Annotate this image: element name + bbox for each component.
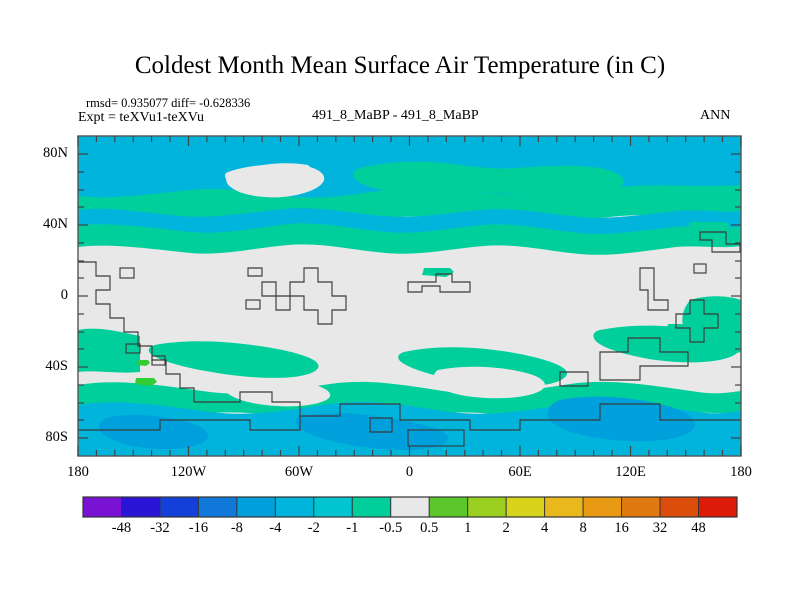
colorbar-cell xyxy=(237,497,275,517)
y-tick-label: 80N xyxy=(22,145,68,162)
colorbar-cell xyxy=(121,497,159,517)
x-tick-label: 180 xyxy=(43,464,113,481)
x-tick-label: 60E xyxy=(485,464,555,481)
rmsd-label: rmsd= 0.935077 diff= -0.628336 xyxy=(86,96,250,111)
x-tick-label: 120E xyxy=(596,464,666,481)
colorbar-cell xyxy=(660,497,698,517)
colorbar-cell xyxy=(622,497,660,517)
contour-band-neghalf-south1 xyxy=(78,329,140,373)
season-label: ANN xyxy=(700,108,730,124)
colorbar xyxy=(83,497,737,517)
y-tick-label: 0 xyxy=(22,287,68,304)
colorbar-cell xyxy=(352,497,390,517)
y-tick-label: 40S xyxy=(22,358,68,375)
colorbar-cell xyxy=(583,497,621,517)
y-tick-label: 80S xyxy=(22,429,68,446)
experiment-label: Expt = teXVu1-teXVu xyxy=(78,110,204,126)
x-tick-label: 180 xyxy=(706,464,776,481)
colorbar-cell xyxy=(83,497,121,517)
colorbar-cell xyxy=(160,497,198,517)
x-tick-label: 120W xyxy=(154,464,224,481)
colorbar-cell xyxy=(314,497,352,517)
colorbar-cell xyxy=(391,497,429,517)
colorbar-cell xyxy=(699,497,737,517)
colorbar-cell xyxy=(198,497,236,517)
colorbar-cell xyxy=(275,497,313,517)
page-title: Coldest Month Mean Surface Air Temperatu… xyxy=(0,52,800,80)
x-tick-label: 0 xyxy=(375,464,445,481)
x-tick-label: 60W xyxy=(264,464,334,481)
colorbar-cell xyxy=(545,497,583,517)
contour-fill-layer xyxy=(78,136,741,456)
map-panel xyxy=(78,136,741,456)
colorbar-cell xyxy=(468,497,506,517)
y-tick-label: 40N xyxy=(22,216,68,233)
temperature-anomaly-figure xyxy=(0,0,800,600)
colorbar-tick-label: 48 xyxy=(676,520,722,537)
colorbar-cell xyxy=(506,497,544,517)
colorbar-cell xyxy=(429,497,467,517)
case-label: 491_8_MaBP - 491_8_MaBP xyxy=(312,108,479,124)
